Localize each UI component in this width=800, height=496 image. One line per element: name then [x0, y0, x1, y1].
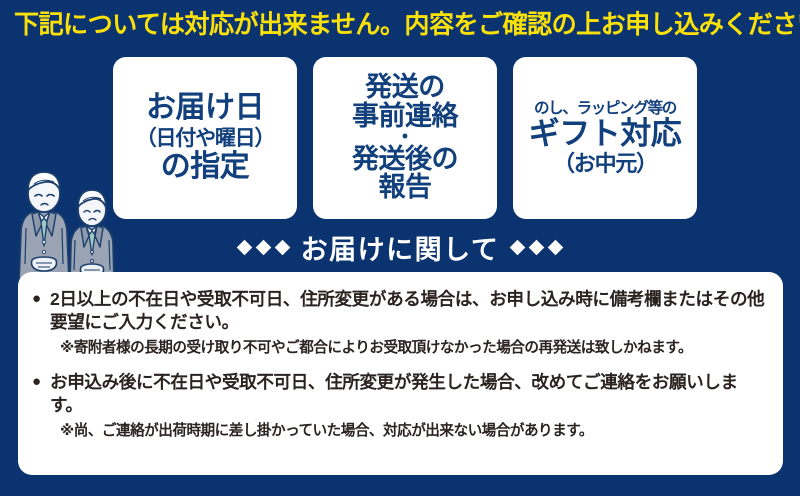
diamond-group-left: [239, 242, 288, 253]
note-main-text: 2日以上の不在日や受取不可日、住所変更がある場合は、お申し込み時に備考欄またはそ…: [50, 288, 769, 334]
notes-panel: ● 2日以上の不在日や受取不可日、住所変更がある場合は、お申し込み時に備考欄また…: [18, 272, 783, 475]
card-shipping-contact-line-3: 発送後の: [352, 146, 458, 174]
diamond-icon: [274, 239, 290, 255]
diamond-icon: [548, 239, 564, 255]
card-shipping-contact: 発送の 事前連絡 ・ 発送後の 報告: [313, 57, 497, 219]
page-title: 下記については対応が出来ません。内容をご確認の上お申し込みください。: [14, 13, 800, 39]
note-main-text: お申込み後に不在日や受取不可日、住所変更が発生した場合、改めてご連絡をお願いしま…: [50, 371, 769, 417]
note-item: ● お申込み後に不在日や受取不可日、住所変更が発生した場合、改めてご連絡をお願い…: [32, 371, 769, 441]
section-heading: お届けに関して: [0, 228, 800, 266]
card-delivery-date: お届け日 （日付や曜日） の指定: [113, 57, 297, 219]
card-delivery-date-line-3: の指定: [161, 152, 250, 183]
card-shipping-contact-separator: ・: [395, 131, 414, 145]
note-sub-text: ※尚、ご連絡が出荷時期に差し掛かっていた場合、対応が出来ない場合があります。: [32, 422, 769, 440]
section-heading-label: お届けに関して: [301, 228, 500, 267]
card-delivery-date-line-2: （日付や曜日）: [136, 128, 275, 149]
card-gift-wrapping: のし、ラッピング等の ギフト対応 （お中元）: [513, 57, 697, 219]
diamond-icon: [510, 239, 526, 255]
card-gift-wrapping-line-3: （お中元）: [553, 153, 657, 175]
card-delivery-date-line-1: お届け日: [146, 93, 264, 124]
card-gift-wrapping-line-2: ギフト対応: [529, 118, 682, 150]
bullet-icon: ●: [32, 371, 50, 392]
card-shipping-contact-line-4: 報告: [379, 174, 432, 202]
diamond-icon: [236, 239, 252, 255]
note-main-row: ● 2日以上の不在日や受取不可日、住所変更がある場合は、お申し込み時に備考欄また…: [32, 288, 769, 334]
card-shipping-contact-line-1: 発送の: [365, 74, 445, 102]
diamond-group-right: [512, 242, 561, 253]
promo-notice-graphic: 下記については対応が出来ません。内容をご確認の上お申し込みください。 お届け日 …: [0, 0, 800, 496]
diamond-icon: [529, 239, 545, 255]
note-main-row: ● お申込み後に不在日や受取不可日、住所変更が発生した場合、改めてご連絡をお願い…: [32, 371, 769, 417]
note-sub-text: ※寄附者様の長期の受け取り不可やご都合によりお受取頂けなかった場合の再発送は致し…: [32, 339, 769, 357]
note-item: ● 2日以上の不在日や受取不可日、住所変更がある場合は、お申し込み時に備考欄また…: [32, 288, 769, 358]
card-gift-wrapping-line-1: のし、ラッピング等の: [534, 101, 676, 117]
diamond-icon: [255, 239, 271, 255]
header-banner: 下記については対応が出来ません。内容をご確認の上お申し込みください。: [0, 0, 800, 52]
bullet-icon: ●: [32, 288, 50, 309]
